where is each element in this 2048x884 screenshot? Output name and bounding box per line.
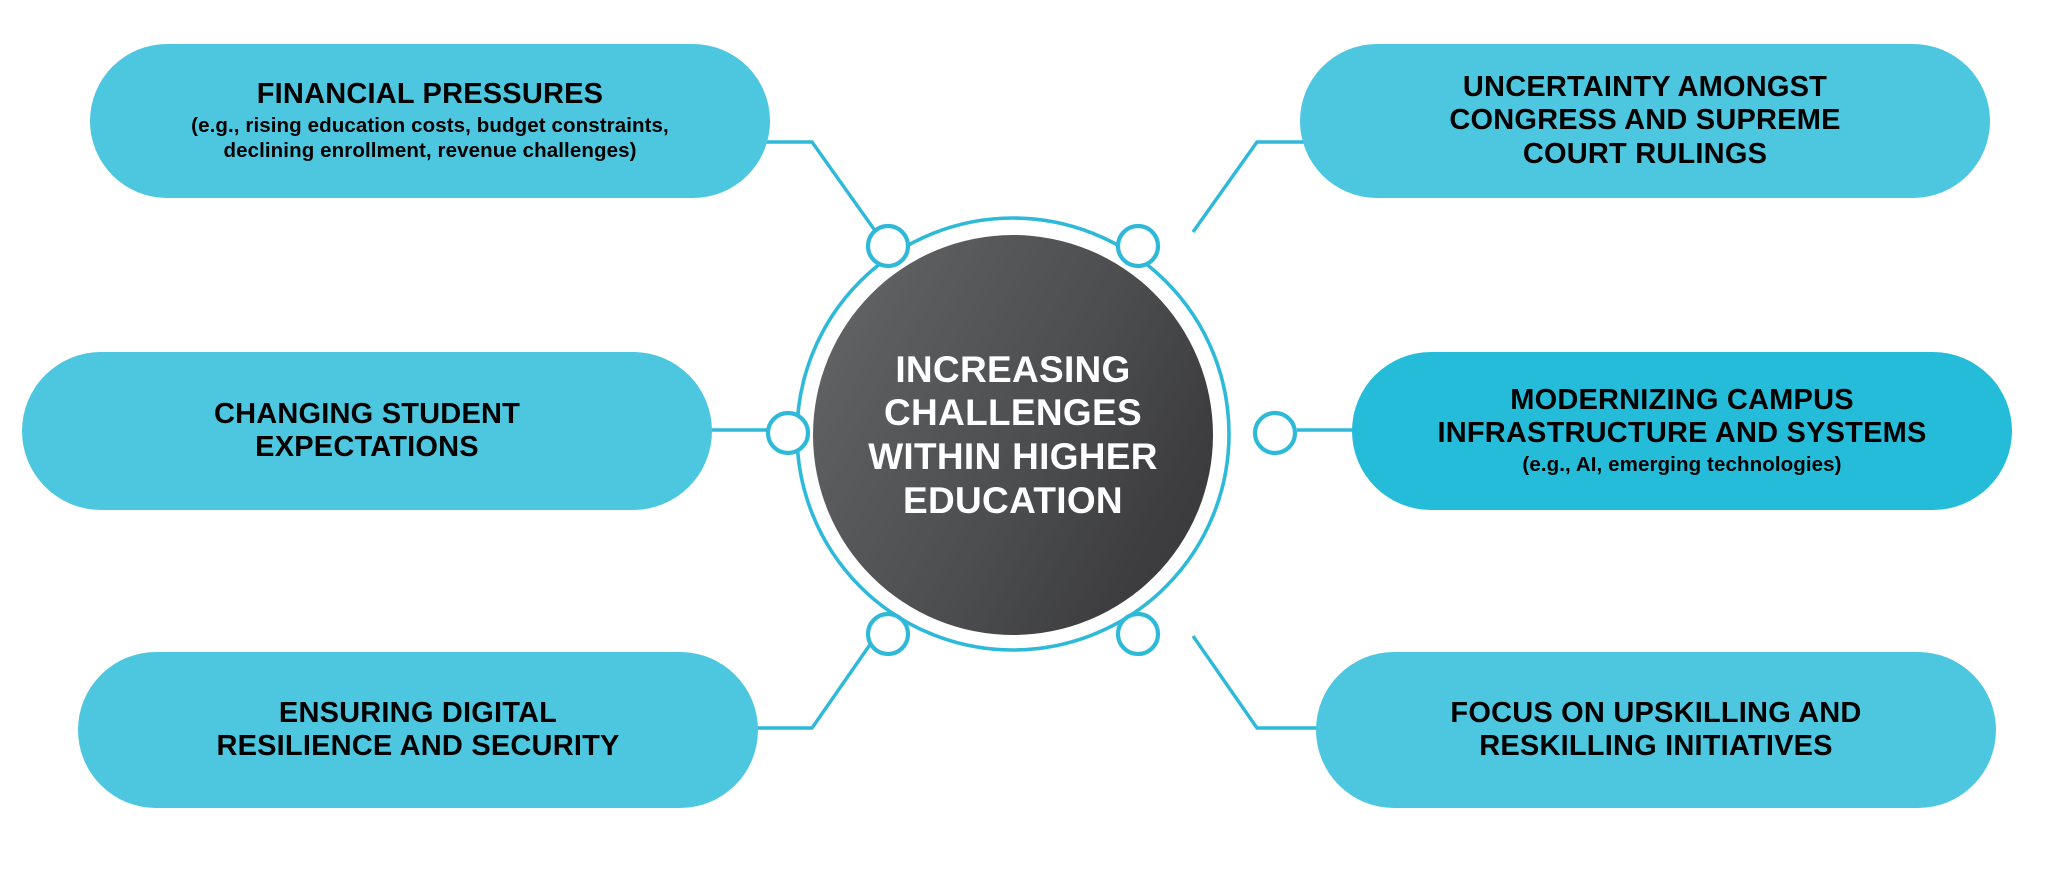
node-title: ENSURING DIGITAL RESILIENCE AND SECURITY (216, 697, 619, 763)
node-title: UNCERTAINTY AMONGST CONGRESS AND SUPREME… (1449, 71, 1840, 170)
node-changing-student-expectations[interactable]: CHANGING STUDENT EXPECTATIONS (22, 352, 712, 510)
connector-line-focus-on-upskilling-and-reskilling-initiatives (1193, 636, 1322, 728)
node-title: FINANCIAL PRESSURES (257, 78, 603, 111)
diagram-canvas: INCREASING CHALLENGES WITHIN HIGHER EDUC… (0, 0, 2048, 884)
node-subtitle: (e.g., AI, emerging technologies) (1522, 453, 1841, 478)
junction-node-middle-left[interactable] (768, 413, 808, 453)
node-ensuring-digital-resilience-and-security[interactable]: ENSURING DIGITAL RESILIENCE AND SECURITY (78, 652, 758, 808)
node-title: CHANGING STUDENT EXPECTATIONS (214, 398, 520, 464)
node-subtitle: (e.g., rising education costs, budget co… (191, 114, 669, 163)
node-financial-pressures[interactable]: FINANCIAL PRESSURES (e.g., rising educat… (90, 44, 770, 198)
connector-line-uncertainty-amongst-congress-and-supreme-court-rulings (1193, 142, 1310, 232)
junction-node-top-right[interactable] (1118, 226, 1158, 266)
node-title: FOCUS ON UPSKILLING AND RESKILLING INITI… (1450, 697, 1861, 763)
node-focus-on-upskilling-and-reskilling-initiatives[interactable]: FOCUS ON UPSKILLING AND RESKILLING INITI… (1316, 652, 1996, 808)
node-uncertainty-amongst-congress-and-supreme-court-rulings[interactable]: UNCERTAINTY AMONGST CONGRESS AND SUPREME… (1300, 44, 1990, 198)
center-hub-label: INCREASING CHALLENGES WITHIN HIGHER EDUC… (868, 348, 1158, 523)
junction-node-middle-right[interactable] (1255, 413, 1295, 453)
junction-node-bottom-right[interactable] (1118, 614, 1158, 654)
connector-line-ensuring-digital-resilience-and-security (752, 636, 876, 728)
junction-node-top-left[interactable] (868, 226, 908, 266)
node-title: MODERNIZING CAMPUS INFRASTRUCTURE AND SY… (1437, 384, 1926, 450)
connector-line-financial-pressures (757, 142, 876, 232)
node-modernizing-campus-infrastructure-and-systems[interactable]: MODERNIZING CAMPUS INFRASTRUCTURE AND SY… (1352, 352, 2012, 510)
junction-node-bottom-left[interactable] (868, 614, 908, 654)
center-hub[interactable]: INCREASING CHALLENGES WITHIN HIGHER EDUC… (813, 235, 1213, 635)
